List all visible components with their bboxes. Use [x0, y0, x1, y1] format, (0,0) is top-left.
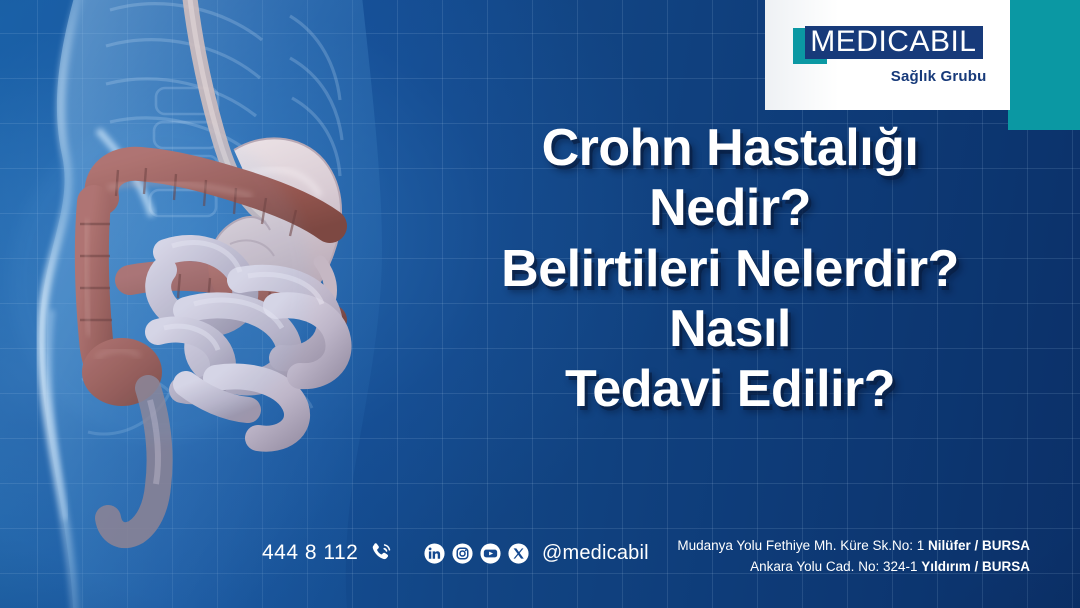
brand-logo[interactable]: MEDICABIL Sağlık Grubu — [765, 0, 1010, 110]
teal-accent-block — [1008, 0, 1080, 130]
logo-navy-bar: MEDICABIL — [805, 26, 983, 59]
address-line-2-text: Ankara Yolu Cad. No: 324-1 — [750, 559, 921, 574]
headline-line-5: Tedavi Edilir? — [400, 359, 1060, 419]
x-icon[interactable] — [508, 543, 529, 564]
address-block: Mudanya Yolu Fethiye Mh. Küre Sk.No: 1 N… — [677, 536, 1030, 578]
logo-mark: MEDICABIL — [783, 26, 993, 66]
footer-bar: 444 8 112 — [0, 536, 1080, 582]
logo-tagline: Sağlık Grubu — [783, 68, 993, 85]
headline-block: Crohn Hastalığı Nedir? Belirtileri Neler… — [400, 118, 1060, 420]
logo-wordmark: MEDICABIL — [810, 25, 982, 59]
digestive-system-illustration — [0, 0, 430, 608]
phone-group[interactable]: 444 8 112 — [262, 540, 394, 566]
address-line-1: Mudanya Yolu Fethiye Mh. Küre Sk.No: 1 N… — [677, 536, 1030, 557]
instagram-icon[interactable] — [452, 543, 473, 564]
youtube-icon[interactable] — [480, 543, 501, 564]
address-line-1-bold: Nilüfer / BURSA — [928, 538, 1030, 553]
headline-line-2: Nedir? — [400, 178, 1060, 238]
headline-line-3: Belirtileri Nelerdir? — [400, 239, 1060, 299]
address-line-2: Ankara Yolu Cad. No: 324-1 Yıldırım / BU… — [677, 557, 1030, 578]
phone-ring-icon[interactable] — [368, 540, 394, 566]
poster-canvas: MEDICABIL Sağlık Grubu Crohn Hastalığı N… — [0, 0, 1080, 608]
phone-number: 444 8 112 — [262, 541, 358, 565]
headline-line-4: Nasıl — [400, 299, 1060, 359]
social-links[interactable]: @medicabil — [424, 542, 649, 565]
linkedin-icon[interactable] — [424, 543, 445, 564]
address-line-1-text: Mudanya Yolu Fethiye Mh. Küre Sk.No: 1 — [677, 538, 928, 553]
address-line-2-bold: Yıldırım / BURSA — [921, 559, 1030, 574]
headline-line-1: Crohn Hastalığı — [400, 118, 1060, 178]
social-handle: @medicabil — [542, 542, 649, 565]
